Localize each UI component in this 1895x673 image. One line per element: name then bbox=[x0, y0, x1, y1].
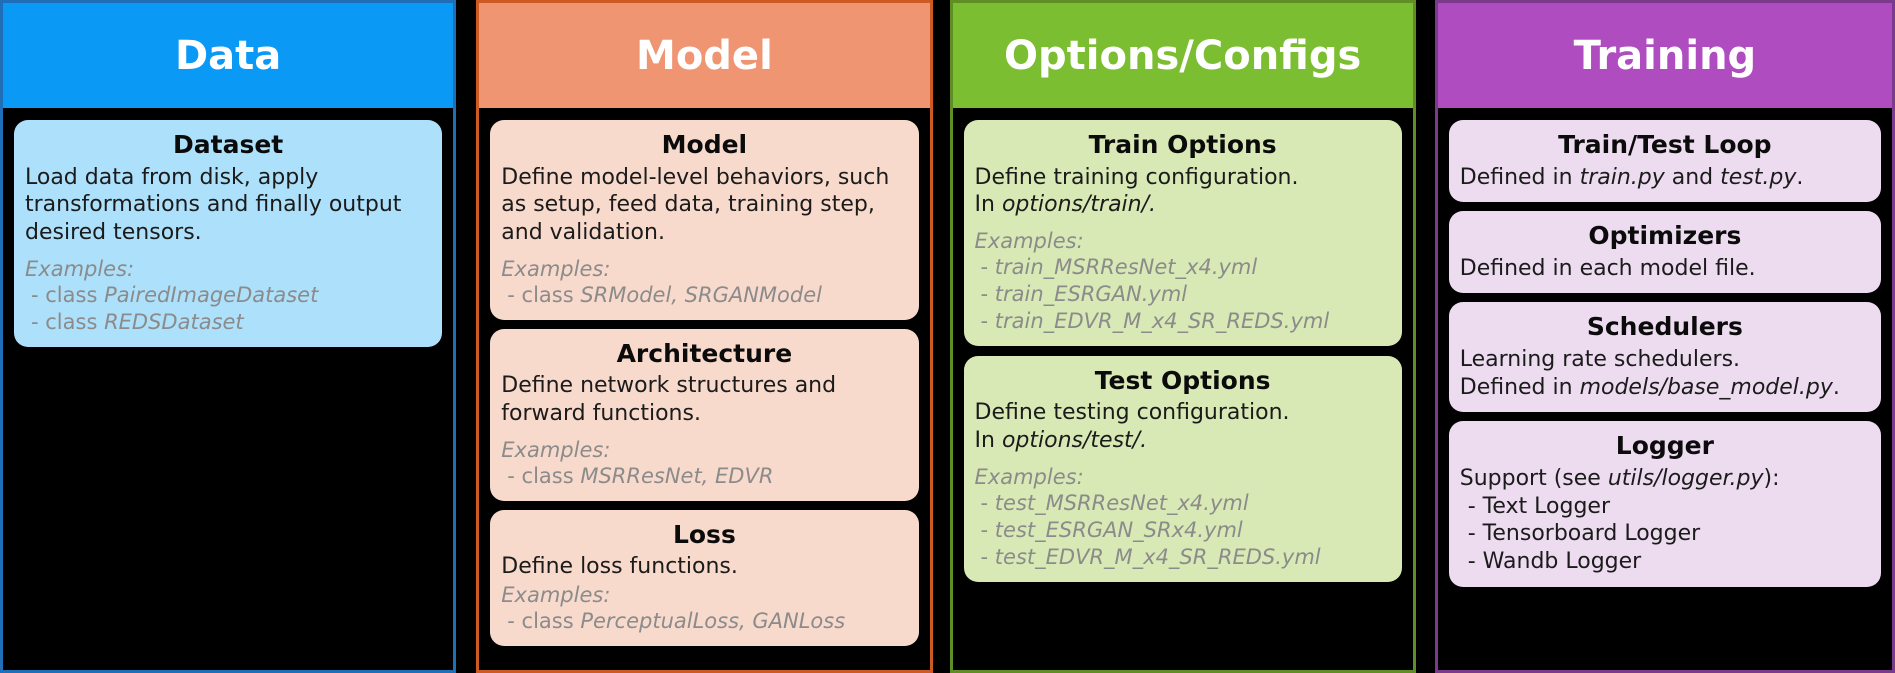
card-title: Optimizers bbox=[1460, 221, 1870, 252]
text-run: - bbox=[981, 545, 995, 569]
card-description-line: Defined in models/base_model.py. bbox=[1460, 374, 1870, 402]
card-title: Logger bbox=[1460, 431, 1870, 462]
card-logger: LoggerSupport (see utils/logger.py): - T… bbox=[1449, 421, 1881, 586]
column-body-model: ModelDefine model-level behaviors, sucha… bbox=[479, 108, 929, 670]
text-run: transformations and finally output bbox=[25, 192, 401, 217]
example-item: - class SRModel, SRGANModel bbox=[501, 282, 907, 309]
text-run: Define training configuration. bbox=[975, 165, 1299, 190]
column-header-training: Training bbox=[1438, 3, 1892, 108]
text-run: Load data from disk, apply bbox=[25, 165, 318, 190]
text-run: REDSDataset bbox=[104, 310, 244, 334]
example-item: - test_MSRResNet_x4.yml bbox=[975, 490, 1391, 517]
text-run: as setup, feed data, training step, bbox=[501, 192, 875, 217]
card-schedulers: SchedulersLearning rate schedulers.Defin… bbox=[1449, 302, 1881, 412]
card-train-options: Train OptionsDefine training configurati… bbox=[964, 120, 1402, 346]
card-description-line: transformations and finally output bbox=[25, 191, 431, 219]
text-run: test_EDVR_M_x4_SR_REDS.yml bbox=[995, 545, 1321, 569]
text-run: - bbox=[981, 282, 995, 306]
text-run: - class bbox=[31, 310, 104, 334]
text-run: test.py bbox=[1720, 165, 1796, 190]
text-run: forward functions. bbox=[501, 401, 701, 426]
card-title: Test Options bbox=[975, 366, 1391, 397]
card-description-line: Define network structures and bbox=[501, 372, 907, 400]
text-run: - class bbox=[507, 464, 580, 488]
example-item: - train_ESRGAN.yml bbox=[975, 281, 1391, 308]
column-options: Options/ConfigsTrain OptionsDefine train… bbox=[950, 0, 1416, 673]
text-run: desired tensors. bbox=[25, 220, 202, 245]
column-model: ModelModelDefine model-level behaviors, … bbox=[476, 0, 932, 673]
card-description-line: desired tensors. bbox=[25, 219, 431, 247]
text-run: Defined in bbox=[1460, 165, 1580, 190]
text-run: - class bbox=[31, 283, 104, 307]
card-description-line: and validation. bbox=[501, 219, 907, 247]
card-description-line: forward functions. bbox=[501, 400, 907, 428]
card-title: Architecture bbox=[501, 339, 907, 370]
list-item: - Tensorboard Logger bbox=[1460, 520, 1870, 548]
text-run: Define network structures and bbox=[501, 373, 836, 398]
text-run: and validation. bbox=[501, 220, 665, 245]
text-run: utils/logger.py bbox=[1608, 466, 1764, 491]
examples-label: Examples: bbox=[501, 583, 907, 608]
text-run: . bbox=[1833, 375, 1840, 400]
card-title: Schedulers bbox=[1460, 312, 1870, 343]
examples-label: Examples: bbox=[975, 229, 1391, 254]
text-run: test_ESRGAN_SRx4.yml bbox=[995, 518, 1243, 542]
text-run: train_EDVR_M_x4_SR_REDS.yml bbox=[995, 309, 1329, 333]
text-run: - class bbox=[507, 283, 580, 307]
text-run: SRModel, SRGANModel bbox=[580, 283, 822, 307]
card-description-line: as setup, feed data, training step, bbox=[501, 191, 907, 219]
card-dataset: DatasetLoad data from disk, applytransfo… bbox=[14, 120, 442, 347]
text-run: Support (see bbox=[1460, 466, 1608, 491]
list-item: - Wandb Logger bbox=[1460, 548, 1870, 576]
text-run: - class bbox=[507, 609, 580, 633]
text-run: - bbox=[981, 518, 995, 542]
card-title: Dataset bbox=[25, 130, 431, 161]
column-body-data: DatasetLoad data from disk, applytransfo… bbox=[3, 108, 453, 670]
example-item: - class PairedImageDataset bbox=[25, 282, 431, 309]
framework-diagram: DataDatasetLoad data from disk, applytra… bbox=[0, 0, 1895, 673]
column-data: DataDatasetLoad data from disk, applytra… bbox=[0, 0, 456, 673]
examples-label: Examples: bbox=[25, 257, 431, 282]
text-run: Defined in each model file. bbox=[1460, 256, 1756, 281]
card-description-line: Defined in each model file. bbox=[1460, 255, 1870, 283]
text-run: options/test/. bbox=[1002, 428, 1147, 453]
card-title: Train/Test Loop bbox=[1460, 130, 1870, 161]
text-run: - bbox=[981, 491, 995, 515]
card-train-test-loop: Train/Test LoopDefined in train.py and t… bbox=[1449, 120, 1881, 202]
text-run: train.py bbox=[1580, 165, 1665, 190]
example-item: - class MSRResNet, EDVR bbox=[501, 463, 907, 490]
text-run: and bbox=[1665, 165, 1720, 190]
text-run: PairedImageDataset bbox=[104, 283, 318, 307]
column-header-model: Model bbox=[479, 3, 929, 108]
text-run: Define model-level behaviors, such bbox=[501, 165, 889, 190]
card-architecture: ArchitectureDefine network structures an… bbox=[490, 329, 918, 501]
text-run: Define loss functions. bbox=[501, 554, 738, 579]
text-run: MSRResNet, EDVR bbox=[580, 464, 773, 488]
text-run: In bbox=[975, 192, 1002, 217]
example-item: - test_ESRGAN_SRx4.yml bbox=[975, 517, 1391, 544]
card-description-line: In options/train/. bbox=[975, 191, 1391, 219]
list-item: - Text Logger bbox=[1460, 493, 1870, 521]
example-item: - train_MSRResNet_x4.yml bbox=[975, 254, 1391, 281]
card-title: Loss bbox=[501, 520, 907, 551]
card-description-line: Define loss functions. bbox=[501, 553, 907, 581]
card-test-options: Test OptionsDefine testing configuration… bbox=[964, 356, 1402, 582]
example-item: - class REDSDataset bbox=[25, 309, 431, 336]
text-run: train_ESRGAN.yml bbox=[995, 282, 1187, 306]
text-run: In bbox=[975, 428, 1002, 453]
card-description-line: Learning rate schedulers. bbox=[1460, 346, 1870, 374]
examples-label: Examples: bbox=[975, 465, 1391, 490]
card-model: ModelDefine model-level behaviors, sucha… bbox=[490, 120, 918, 320]
card-loss: LossDefine loss functions.Examples: - cl… bbox=[490, 510, 918, 646]
text-run: test_MSRResNet_x4.yml bbox=[995, 491, 1249, 515]
column-header-data: Data bbox=[3, 3, 453, 108]
examples-label: Examples: bbox=[501, 257, 907, 282]
card-description-line: Defined in train.py and test.py. bbox=[1460, 164, 1870, 192]
card-optimizers: OptimizersDefined in each model file. bbox=[1449, 211, 1881, 293]
text-run: options/train/. bbox=[1002, 192, 1156, 217]
card-title: Train Options bbox=[975, 130, 1391, 161]
text-run: models/base_model.py bbox=[1580, 375, 1833, 400]
text-run: - bbox=[981, 255, 995, 279]
column-header-options: Options/Configs bbox=[953, 3, 1413, 108]
text-run: Learning rate schedulers. bbox=[1460, 347, 1740, 372]
card-description-line: Define model-level behaviors, such bbox=[501, 164, 907, 192]
text-run: ): bbox=[1764, 466, 1780, 491]
example-item: - class PerceptualLoss, GANLoss bbox=[501, 608, 907, 635]
example-item: - train_EDVR_M_x4_SR_REDS.yml bbox=[975, 308, 1391, 335]
example-item: - test_EDVR_M_x4_SR_REDS.yml bbox=[975, 544, 1391, 571]
text-run: . bbox=[1796, 165, 1803, 190]
text-run: - bbox=[981, 309, 995, 333]
column-training: TrainingTrain/Test LoopDefined in train.… bbox=[1435, 0, 1895, 673]
card-title: Model bbox=[501, 130, 907, 161]
text-run: Define testing configuration. bbox=[975, 400, 1290, 425]
card-description-line: Load data from disk, apply bbox=[25, 164, 431, 192]
examples-label: Examples: bbox=[501, 438, 907, 463]
text-run: Defined in bbox=[1460, 375, 1580, 400]
card-description-line: Define testing configuration. bbox=[975, 399, 1391, 427]
card-description-line: Define training configuration. bbox=[975, 164, 1391, 192]
column-body-training: Train/Test LoopDefined in train.py and t… bbox=[1438, 108, 1892, 670]
text-run: train_MSRResNet_x4.yml bbox=[995, 255, 1257, 279]
text-run: PerceptualLoss, GANLoss bbox=[580, 609, 845, 633]
column-body-options: Train OptionsDefine training configurati… bbox=[953, 108, 1413, 670]
card-description-line: Support (see utils/logger.py): bbox=[1460, 465, 1870, 493]
card-description-line: In options/test/. bbox=[975, 427, 1391, 455]
